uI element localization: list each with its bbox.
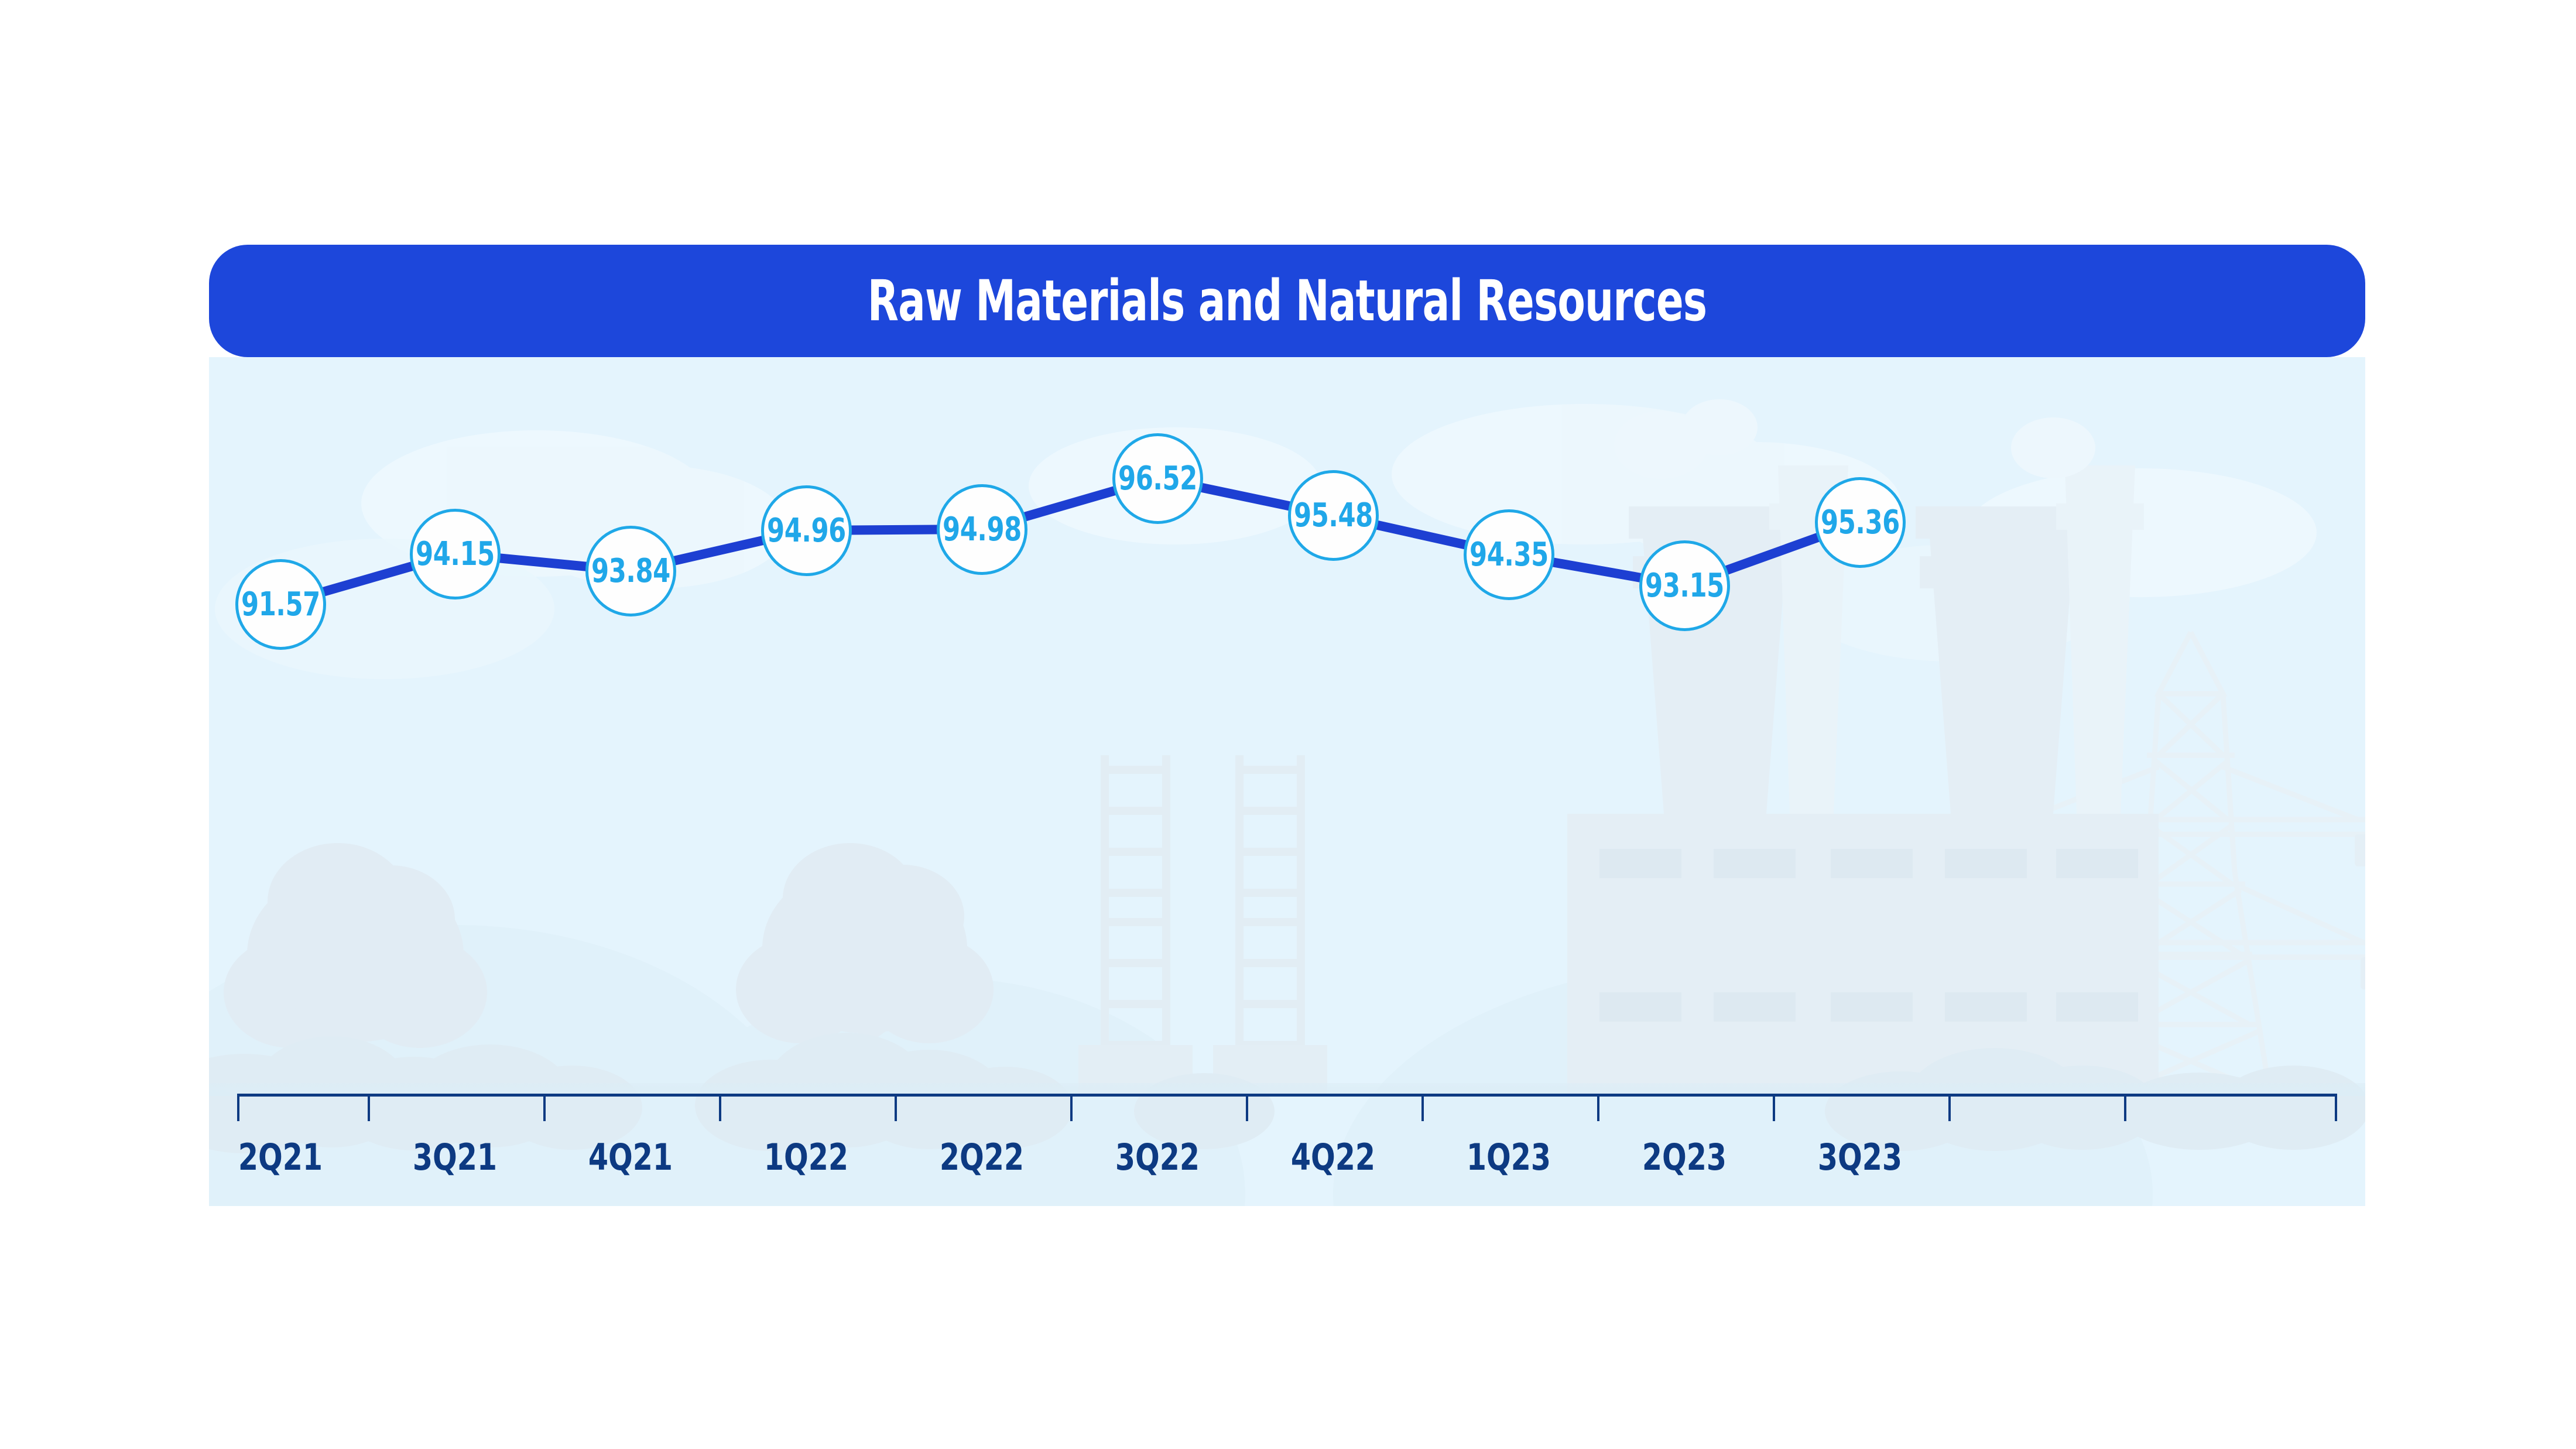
axis-tick	[1597, 1094, 1599, 1121]
series-polyline	[280, 478, 1860, 604]
axis-tick	[237, 1094, 239, 1121]
x-axis-line	[237, 1094, 2337, 1097]
x-axis-label: 2Q23	[1618, 1136, 1752, 1179]
axis-tick	[1948, 1094, 1951, 1121]
x-axis-label: 1Q22	[739, 1136, 873, 1179]
x-axis-label: 3Q23	[1793, 1136, 1927, 1179]
data-point-label: 93.15	[1645, 567, 1724, 605]
axis-tick	[368, 1094, 370, 1121]
data-point-marker[interactable]: 96.52	[1112, 433, 1203, 524]
infographic-card: Raw Materials and Natural Resources	[209, 245, 2365, 1206]
x-axis-label: 3Q21	[388, 1136, 522, 1179]
data-point-marker[interactable]: 95.36	[1815, 477, 1906, 568]
data-point-label: 95.48	[1294, 496, 1373, 535]
data-point-label: 91.57	[241, 585, 320, 624]
data-point-marker[interactable]: 91.57	[235, 559, 326, 650]
axis-tick	[1070, 1094, 1073, 1121]
x-axis-label: 2Q21	[214, 1136, 348, 1179]
page-title: Raw Materials and Natural Resources	[424, 245, 2149, 357]
chart-header-bar: Raw Materials and Natural Resources	[209, 245, 2365, 357]
data-point-label: 95.36	[1821, 503, 1900, 542]
axis-tick	[1421, 1094, 1424, 1121]
x-axis-label: 4Q21	[564, 1136, 698, 1179]
series-line	[209, 357, 2365, 1206]
data-point-marker[interactable]: 93.84	[585, 526, 676, 616]
x-axis-label: 3Q22	[1091, 1136, 1225, 1179]
data-point-marker[interactable]: 93.15	[1639, 540, 1730, 631]
data-point-marker[interactable]: 94.15	[410, 509, 501, 600]
data-point-marker[interactable]: 95.48	[1288, 470, 1379, 561]
chart-canvas: 91.57 94.15 93.84 94.96 94.98 96.52 95.4…	[209, 357, 2365, 1206]
data-point-marker[interactable]: 94.98	[937, 484, 1027, 575]
data-point-label: 94.35	[1469, 536, 1549, 574]
axis-tick	[2124, 1094, 2126, 1121]
x-axis-label: 1Q23	[1442, 1136, 1576, 1179]
x-axis-label: 2Q22	[915, 1136, 1049, 1179]
axis-tick	[719, 1094, 721, 1121]
data-point-label: 94.15	[416, 535, 495, 573]
axis-tick	[2335, 1094, 2337, 1121]
plot-area: 91.57 94.15 93.84 94.96 94.98 96.52 95.4…	[209, 357, 2365, 1206]
data-point-label: 94.96	[767, 512, 846, 550]
x-axis-label: 4Q22	[1266, 1136, 1400, 1179]
data-point-marker[interactable]: 94.35	[1464, 509, 1554, 600]
data-point-label: 94.98	[943, 511, 1022, 549]
data-point-label: 93.84	[591, 552, 670, 590]
axis-tick	[543, 1094, 546, 1121]
axis-tick	[1246, 1094, 1248, 1121]
axis-tick	[895, 1094, 897, 1121]
data-point-marker[interactable]: 94.96	[761, 485, 852, 576]
data-point-label: 96.52	[1118, 460, 1197, 498]
axis-tick	[1773, 1094, 1775, 1121]
